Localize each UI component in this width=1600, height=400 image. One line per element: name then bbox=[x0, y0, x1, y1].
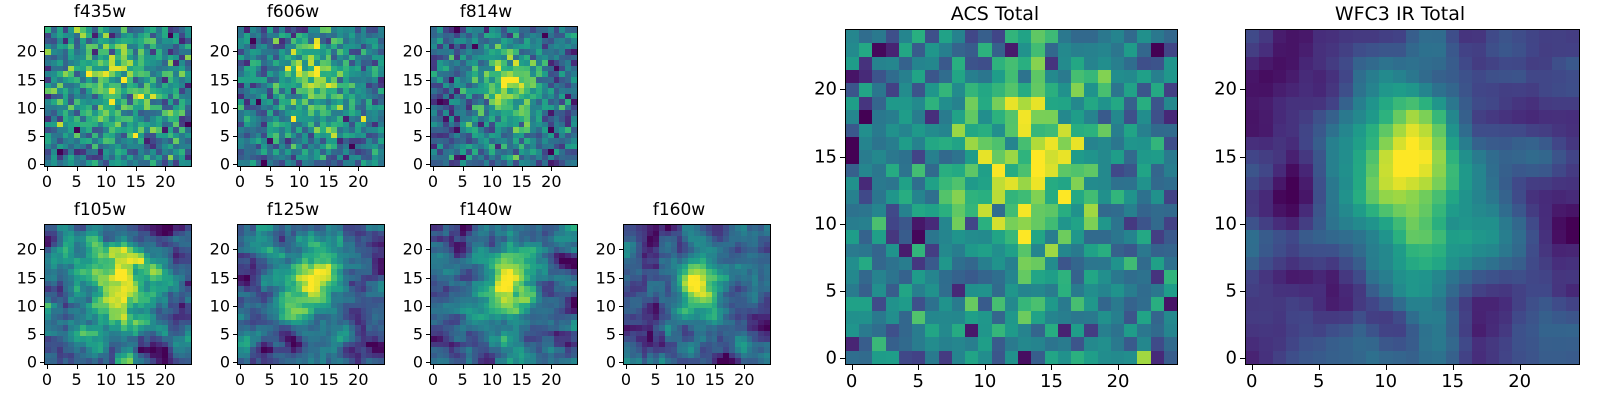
xtick-mark bbox=[106, 167, 107, 171]
ytick-mark bbox=[233, 136, 237, 137]
xtick-label: 5 bbox=[71, 370, 81, 389]
xtick-label: 20 bbox=[348, 172, 368, 191]
xtick-label: 5 bbox=[264, 370, 274, 389]
xtick-mark bbox=[165, 167, 166, 171]
xtick-label: 10 bbox=[289, 370, 309, 389]
panel-title-wfc3-ir-total: WFC3 IR Total bbox=[1200, 3, 1600, 25]
ytick-mark bbox=[40, 306, 44, 307]
ytick-mark bbox=[233, 164, 237, 165]
ytick-label: 5 bbox=[193, 126, 230, 145]
ytick-mark bbox=[426, 136, 430, 137]
xtick-label: 15 bbox=[319, 370, 339, 389]
panel-title-f125w: f125w bbox=[193, 200, 393, 220]
panel-acs-total: ACS Total 0055101015152020 bbox=[800, 0, 1190, 400]
ytick-mark bbox=[619, 362, 623, 363]
ytick-mark bbox=[40, 136, 44, 137]
ytick-label: 10 bbox=[193, 296, 230, 315]
ytick-mark bbox=[426, 278, 430, 279]
ytick-mark bbox=[40, 249, 44, 250]
ytick-label: 5 bbox=[0, 126, 37, 145]
heatmap-f140w bbox=[430, 224, 578, 365]
xtick-label: 15 bbox=[126, 370, 146, 389]
xtick-label: 20 bbox=[541, 172, 561, 191]
xtick-label: 10 bbox=[96, 370, 116, 389]
xtick-mark bbox=[551, 365, 552, 369]
ytick-mark bbox=[426, 51, 430, 52]
panel-f160w: f160w 0055101015152020 bbox=[579, 198, 779, 398]
heatmap-acs-total bbox=[845, 29, 1178, 365]
ytick-label: 0 bbox=[386, 353, 423, 372]
ytick-label: 10 bbox=[386, 98, 423, 117]
xtick-label: 5 bbox=[457, 172, 467, 191]
heatmap-wfc3-ir-total bbox=[1245, 29, 1580, 365]
xtick-mark bbox=[270, 365, 271, 369]
xtick-mark bbox=[433, 365, 434, 369]
ytick-mark bbox=[619, 249, 623, 250]
ytick-label: 5 bbox=[579, 324, 616, 343]
xtick-label: 0 bbox=[42, 370, 52, 389]
heatmap-f125w bbox=[237, 224, 385, 365]
ytick-label: 5 bbox=[0, 324, 37, 343]
xtick-mark bbox=[77, 167, 78, 171]
ytick-mark bbox=[840, 224, 845, 225]
xtick-label: 15 bbox=[512, 370, 532, 389]
ytick-label: 15 bbox=[579, 268, 616, 287]
ytick-mark bbox=[619, 278, 623, 279]
ytick-mark bbox=[840, 358, 845, 359]
xtick-mark bbox=[1453, 365, 1454, 370]
ytick-label: 0 bbox=[0, 155, 37, 174]
ytick-label: 0 bbox=[193, 155, 230, 174]
ytick-label: 10 bbox=[386, 296, 423, 315]
ytick-mark bbox=[426, 164, 430, 165]
ytick-mark bbox=[1240, 89, 1245, 90]
xtick-label: 0 bbox=[42, 172, 52, 191]
xtick-mark bbox=[715, 365, 716, 369]
ytick-label: 20 bbox=[193, 42, 230, 61]
ytick-mark bbox=[1240, 291, 1245, 292]
xtick-mark bbox=[47, 167, 48, 171]
xtick-mark bbox=[358, 167, 359, 171]
xtick-label: 5 bbox=[264, 172, 274, 191]
xtick-label: 10 bbox=[1374, 371, 1397, 392]
xtick-label: 15 bbox=[705, 370, 725, 389]
ytick-mark bbox=[233, 362, 237, 363]
ytick-mark bbox=[40, 164, 44, 165]
ytick-mark bbox=[40, 278, 44, 279]
xtick-label: 20 bbox=[155, 172, 175, 191]
xtick-mark bbox=[329, 365, 330, 369]
ytick-mark bbox=[40, 108, 44, 109]
xtick-label: 0 bbox=[235, 172, 245, 191]
heatmap-f160w bbox=[623, 224, 771, 365]
xtick-mark bbox=[1319, 365, 1320, 370]
xtick-label: 10 bbox=[289, 172, 309, 191]
xtick-mark bbox=[240, 167, 241, 171]
figure-canvas: f435w 0055101015152020 f606w 00551010151… bbox=[0, 0, 1600, 400]
xtick-mark bbox=[433, 167, 434, 171]
xtick-label: 0 bbox=[846, 371, 857, 392]
xtick-mark bbox=[852, 365, 853, 370]
ytick-mark bbox=[233, 80, 237, 81]
xtick-mark bbox=[918, 365, 919, 370]
xtick-mark bbox=[492, 365, 493, 369]
ytick-mark bbox=[619, 306, 623, 307]
xtick-mark bbox=[551, 167, 552, 171]
ytick-label: 20 bbox=[386, 240, 423, 259]
ytick-label: 0 bbox=[800, 348, 837, 369]
xtick-label: 15 bbox=[126, 172, 146, 191]
heatmap-f435w bbox=[44, 26, 192, 167]
ytick-mark bbox=[426, 80, 430, 81]
ytick-mark bbox=[426, 249, 430, 250]
xtick-mark bbox=[47, 365, 48, 369]
xtick-label: 5 bbox=[457, 370, 467, 389]
ytick-mark bbox=[233, 334, 237, 335]
ytick-mark bbox=[233, 249, 237, 250]
xtick-label: 10 bbox=[973, 371, 996, 392]
xtick-label: 15 bbox=[1040, 371, 1063, 392]
ytick-label: 20 bbox=[386, 42, 423, 61]
ytick-label: 15 bbox=[0, 70, 37, 89]
xtick-mark bbox=[240, 365, 241, 369]
xtick-label: 5 bbox=[650, 370, 660, 389]
xtick-mark bbox=[270, 167, 271, 171]
xtick-label: 20 bbox=[155, 370, 175, 389]
xtick-label: 20 bbox=[1107, 371, 1130, 392]
xtick-mark bbox=[165, 365, 166, 369]
ytick-mark bbox=[1240, 224, 1245, 225]
panel-title-f435w: f435w bbox=[0, 2, 200, 22]
panel-f435w: f435w 0055101015152020 bbox=[0, 0, 200, 195]
ytick-label: 10 bbox=[579, 296, 616, 315]
panel-title-f160w: f160w bbox=[579, 200, 779, 220]
panel-title-f140w: f140w bbox=[386, 200, 586, 220]
ytick-label: 20 bbox=[0, 240, 37, 259]
xtick-mark bbox=[985, 365, 986, 370]
ytick-label: 10 bbox=[0, 296, 37, 315]
ytick-label: 20 bbox=[0, 42, 37, 61]
ytick-label: 10 bbox=[193, 98, 230, 117]
xtick-label: 0 bbox=[428, 172, 438, 191]
ytick-mark bbox=[40, 51, 44, 52]
xtick-label: 20 bbox=[348, 370, 368, 389]
xtick-mark bbox=[299, 365, 300, 369]
xtick-label: 5 bbox=[1313, 371, 1324, 392]
xtick-label: 20 bbox=[541, 370, 561, 389]
xtick-label: 0 bbox=[1246, 371, 1257, 392]
panel-title-f105w: f105w bbox=[0, 200, 200, 220]
ytick-mark bbox=[840, 291, 845, 292]
ytick-label: 20 bbox=[1200, 79, 1237, 100]
ytick-label: 0 bbox=[193, 353, 230, 372]
ytick-label: 0 bbox=[0, 353, 37, 372]
xtick-mark bbox=[685, 365, 686, 369]
xtick-mark bbox=[106, 365, 107, 369]
xtick-mark bbox=[1118, 365, 1119, 370]
panel-title-f606w: f606w bbox=[193, 2, 393, 22]
xtick-label: 10 bbox=[482, 370, 502, 389]
ytick-label: 15 bbox=[193, 268, 230, 287]
xtick-label: 5 bbox=[913, 371, 924, 392]
xtick-mark bbox=[522, 167, 523, 171]
xtick-mark bbox=[463, 167, 464, 171]
ytick-label: 10 bbox=[800, 213, 837, 234]
ytick-mark bbox=[233, 51, 237, 52]
ytick-mark bbox=[233, 306, 237, 307]
xtick-mark bbox=[1252, 365, 1253, 370]
xtick-label: 15 bbox=[512, 172, 532, 191]
ytick-mark bbox=[1240, 157, 1245, 158]
panel-f105w: f105w 0055101015152020 bbox=[0, 198, 200, 398]
ytick-mark bbox=[1240, 358, 1245, 359]
ytick-label: 20 bbox=[800, 79, 837, 100]
ytick-mark bbox=[233, 278, 237, 279]
ytick-label: 5 bbox=[800, 281, 837, 302]
ytick-mark bbox=[840, 89, 845, 90]
ytick-label: 15 bbox=[800, 146, 837, 167]
xtick-mark bbox=[136, 167, 137, 171]
heatmap-f105w bbox=[44, 224, 192, 365]
panel-title-f814w: f814w bbox=[386, 2, 586, 22]
xtick-mark bbox=[626, 365, 627, 369]
xtick-mark bbox=[463, 365, 464, 369]
xtick-label: 20 bbox=[1508, 371, 1531, 392]
xtick-mark bbox=[136, 365, 137, 369]
panel-f125w: f125w 0055101015152020 bbox=[193, 198, 393, 398]
ytick-mark bbox=[40, 362, 44, 363]
panel-wfc3-ir-total: WFC3 IR Total 0055101015152020 bbox=[1200, 0, 1600, 400]
ytick-label: 5 bbox=[1200, 281, 1237, 302]
panel-title-acs-total: ACS Total bbox=[800, 3, 1190, 25]
ytick-label: 0 bbox=[579, 353, 616, 372]
xtick-label: 10 bbox=[482, 172, 502, 191]
heatmap-f814w bbox=[430, 26, 578, 167]
ytick-label: 0 bbox=[386, 155, 423, 174]
ytick-label: 20 bbox=[193, 240, 230, 259]
ytick-label: 15 bbox=[386, 268, 423, 287]
ytick-label: 5 bbox=[386, 324, 423, 343]
ytick-mark bbox=[426, 108, 430, 109]
heatmap-f606w bbox=[237, 26, 385, 167]
ytick-label: 15 bbox=[1200, 146, 1237, 167]
panel-f814w: f814w 0055101015152020 bbox=[386, 0, 586, 195]
ytick-label: 5 bbox=[193, 324, 230, 343]
ytick-label: 10 bbox=[0, 98, 37, 117]
xtick-mark bbox=[1051, 365, 1052, 370]
xtick-mark bbox=[1386, 365, 1387, 370]
xtick-mark bbox=[329, 167, 330, 171]
xtick-mark bbox=[77, 365, 78, 369]
ytick-label: 15 bbox=[193, 70, 230, 89]
ytick-mark bbox=[233, 108, 237, 109]
xtick-label: 0 bbox=[235, 370, 245, 389]
xtick-mark bbox=[299, 167, 300, 171]
xtick-label: 0 bbox=[428, 370, 438, 389]
xtick-mark bbox=[358, 365, 359, 369]
xtick-mark bbox=[656, 365, 657, 369]
panel-f606w: f606w 0055101015152020 bbox=[193, 0, 393, 195]
ytick-label: 0 bbox=[1200, 348, 1237, 369]
ytick-mark bbox=[619, 334, 623, 335]
xtick-label: 15 bbox=[319, 172, 339, 191]
xtick-label: 10 bbox=[96, 172, 116, 191]
ytick-mark bbox=[840, 157, 845, 158]
xtick-mark bbox=[1520, 365, 1521, 370]
ytick-label: 10 bbox=[1200, 213, 1237, 234]
xtick-mark bbox=[522, 365, 523, 369]
xtick-label: 0 bbox=[621, 370, 631, 389]
xtick-label: 20 bbox=[734, 370, 754, 389]
xtick-mark bbox=[744, 365, 745, 369]
ytick-mark bbox=[426, 334, 430, 335]
panel-f140w: f140w 0055101015152020 bbox=[386, 198, 586, 398]
ytick-mark bbox=[40, 334, 44, 335]
ytick-mark bbox=[40, 80, 44, 81]
ytick-mark bbox=[426, 306, 430, 307]
ytick-label: 5 bbox=[386, 126, 423, 145]
ytick-label: 20 bbox=[579, 240, 616, 259]
xtick-label: 15 bbox=[1441, 371, 1464, 392]
xtick-label: 5 bbox=[71, 172, 81, 191]
xtick-mark bbox=[492, 167, 493, 171]
ytick-mark bbox=[426, 362, 430, 363]
ytick-label: 15 bbox=[0, 268, 37, 287]
xtick-label: 10 bbox=[675, 370, 695, 389]
ytick-label: 15 bbox=[386, 70, 423, 89]
